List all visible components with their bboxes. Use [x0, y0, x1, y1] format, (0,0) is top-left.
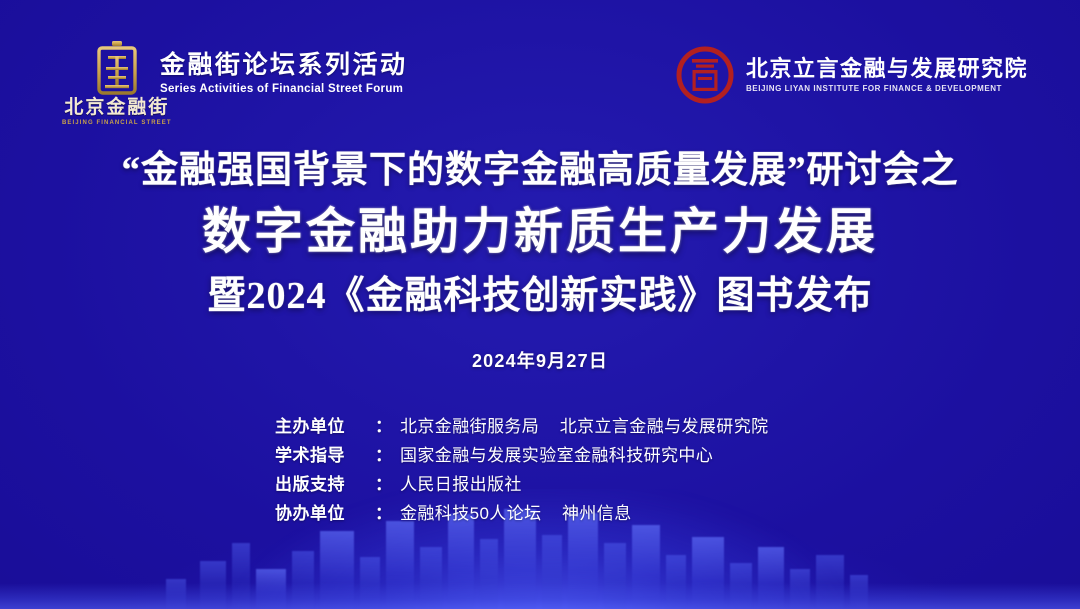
skyline-building — [632, 525, 660, 609]
skyline-ground-glow — [0, 583, 1080, 609]
skyline-building — [386, 521, 414, 609]
skyline-building — [692, 537, 724, 609]
forum-title-block: 金融街论坛系列活动 Series Activities of Financial… — [160, 52, 408, 95]
skyline-building — [568, 513, 598, 609]
financial-street-name-cn: 北京金融街 — [64, 98, 169, 117]
page-title-line-1: “金融强国背景下的数字金融高质量发展”研讨会之 — [0, 148, 1080, 194]
credit-label: 协办单位 — [275, 503, 375, 526]
skyline-building — [166, 579, 186, 609]
liyan-institute-logo: 北京立言金融与发展研究院 BEIJING LIYAN INSTITUTE FOR… — [676, 46, 1028, 104]
forum-title-en: Series Activities of Financial Street Fo… — [160, 83, 408, 95]
credit-value: 金融科技50人论坛 神州信息 — [400, 503, 632, 526]
skyline-building — [790, 569, 810, 609]
page-title-line-3: 暨2024《金融科技创新实践》图书发布 — [0, 272, 1080, 321]
skyline-building — [816, 555, 844, 609]
credit-colon: ： — [375, 416, 392, 439]
red-round-seal-icon — [676, 46, 734, 104]
page-title-line-2: 数字金融助力新质生产力发展 — [0, 200, 1080, 264]
institute-name-en: BEIJING LIYAN INSTITUTE FOR FINANCE & DE… — [746, 84, 1028, 93]
financial-street-name-en: BEIJING FINANCIAL STREET — [62, 120, 172, 126]
credit-row: 出版支持 ： 人民日报出版社 — [275, 474, 805, 497]
credit-value: 北京金融街服务局 北京立言金融与发展研究院 — [400, 416, 769, 439]
skyline-building — [256, 569, 286, 609]
credit-row: 主办单位 ： 北京金融街服务局 北京立言金融与发展研究院 — [275, 416, 805, 439]
skyline-building — [232, 543, 250, 609]
credit-value: 人民日报出版社 — [400, 474, 522, 497]
skyline-building — [850, 575, 868, 609]
credit-colon: ： — [375, 445, 392, 468]
event-date: 2024年9月27日 — [0, 347, 1080, 373]
credit-value: 国家金融与发展实验室金融科技研究中心 — [400, 445, 713, 468]
skyline-building — [360, 557, 380, 609]
skyline-building — [542, 535, 562, 609]
forum-title-cn: 金融街论坛系列活动 — [160, 52, 408, 81]
financial-street-logo: 北京金融街 BEIJING FINANCIAL STREET — [62, 40, 172, 126]
credits-block: 主办单位 ： 北京金融街服务局 北京立言金融与发展研究院 学术指导 ： 国家金融… — [0, 416, 1080, 526]
skyline-building — [730, 563, 752, 609]
skyline-building — [604, 543, 626, 609]
gold-seal-icon — [94, 40, 140, 98]
skyline-building — [448, 514, 474, 609]
skyline-building — [320, 531, 354, 609]
skyline-building — [420, 547, 442, 609]
credit-label: 出版支持 — [275, 474, 375, 497]
credit-label: 主办单位 — [275, 416, 375, 439]
credit-label: 学术指导 — [275, 445, 375, 468]
skyline-building — [758, 547, 784, 609]
credit-colon: ： — [375, 474, 392, 497]
credit-row: 学术指导 ： 国家金融与发展实验室金融科技研究中心 — [275, 445, 805, 468]
title-block: “金融强国背景下的数字金融高质量发展”研讨会之 数字金融助力新质生产力发展 暨2… — [0, 148, 1080, 373]
poster-header: 北京金融街 BEIJING FINANCIAL STREET 金融街论坛系列活动… — [0, 0, 1080, 130]
skyline-building — [200, 561, 226, 609]
institute-name-cn: 北京立言金融与发展研究院 — [746, 57, 1028, 81]
skyline-building — [480, 539, 498, 609]
credit-row: 协办单位 ： 金融科技50人论坛 神州信息 — [275, 503, 805, 526]
skyline-building — [292, 551, 314, 609]
credit-colon: ： — [375, 503, 392, 526]
event-poster: 北京金融街 BEIJING FINANCIAL STREET 金融街论坛系列活动… — [0, 0, 1080, 609]
skyline-building — [666, 555, 686, 609]
